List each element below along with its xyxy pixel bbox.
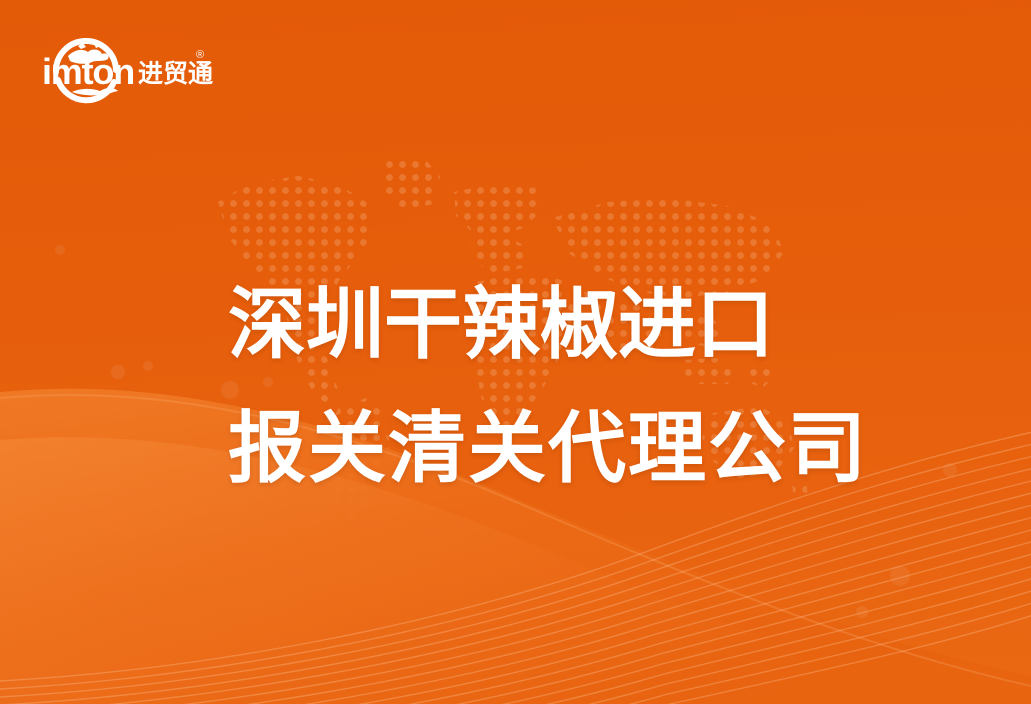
- promo-banner: imton 进贸通 ® 深圳干辣椒进口 报关清关代理公司: [0, 0, 1031, 704]
- logo-latin-text: imton: [42, 51, 134, 92]
- logo-chinese-text: 进贸通: [138, 60, 213, 88]
- company-logo[interactable]: imton 进贸通 ®: [42, 28, 218, 104]
- headline-line-2: 报关清关代理公司: [228, 386, 928, 510]
- headline-line-1: 深圳干辣椒进口: [228, 262, 928, 386]
- headline-block: 深圳干辣椒进口 报关清关代理公司: [228, 262, 928, 510]
- logo-trademark-symbol: ®: [196, 49, 204, 61]
